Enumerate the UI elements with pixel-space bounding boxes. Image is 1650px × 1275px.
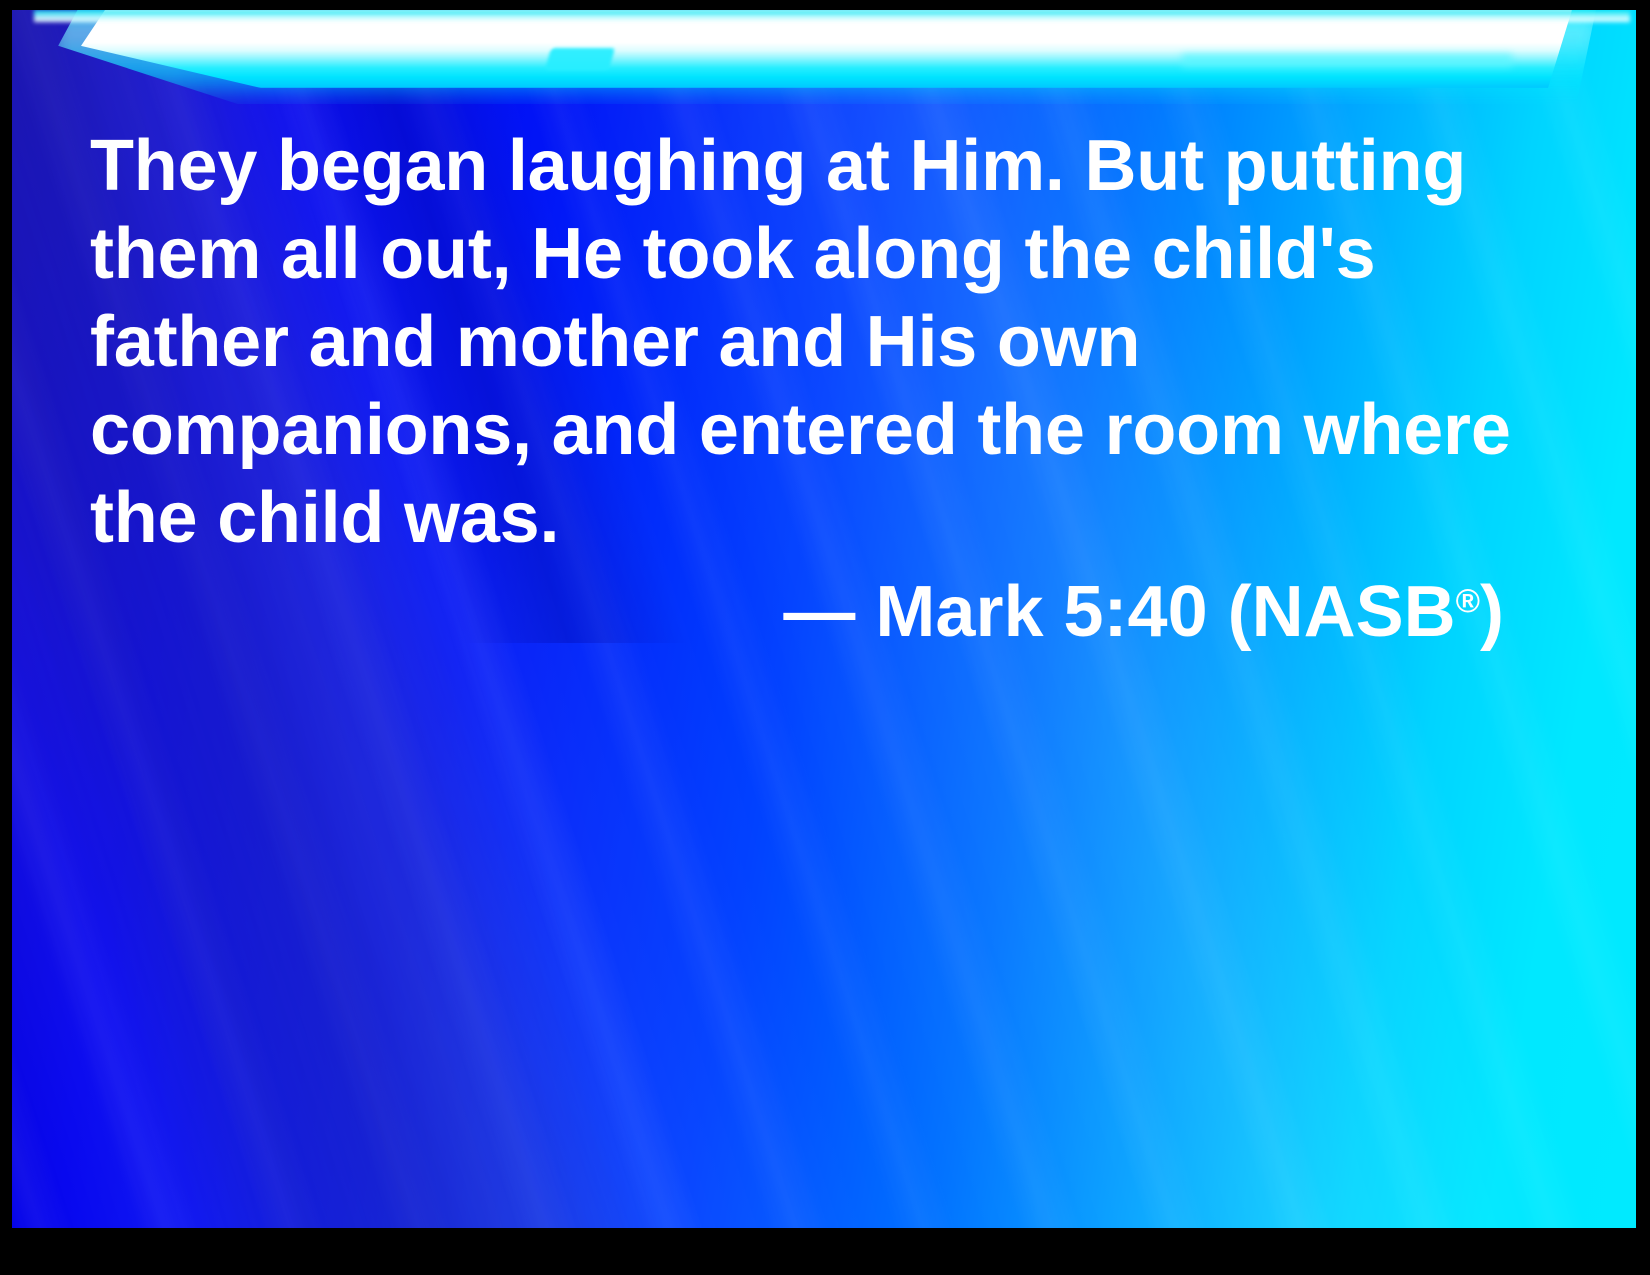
verse-line-4: companions, and entered the room where (90, 386, 1570, 474)
attribution-prefix: — Mark 5:40 (NASB (783, 572, 1455, 652)
verse-line-3: father and mother and His own (90, 298, 1570, 386)
header-glow-cap (34, 10, 1630, 22)
verse-line-2: them all out, He took along the child's (90, 210, 1570, 298)
attribution-suffix: ) (1480, 572, 1504, 652)
slide-canvas: They began laughing at Him. But putting … (12, 10, 1636, 1228)
header-glow-accent-streak (1182, 54, 1512, 67)
header-glow-accent-blob (545, 48, 615, 70)
registered-trademark-icon: ® (1456, 583, 1480, 620)
verse-attribution: — Mark 5:40 (NASB®) (90, 558, 1504, 656)
verse-text-block: They began laughing at Him. But putting … (90, 122, 1570, 562)
verse-line-5: the child was. (90, 474, 1570, 562)
verse-line-1: They began laughing at Him. But putting (90, 122, 1570, 210)
verse-slide: They began laughing at Him. But putting … (0, 0, 1650, 1275)
